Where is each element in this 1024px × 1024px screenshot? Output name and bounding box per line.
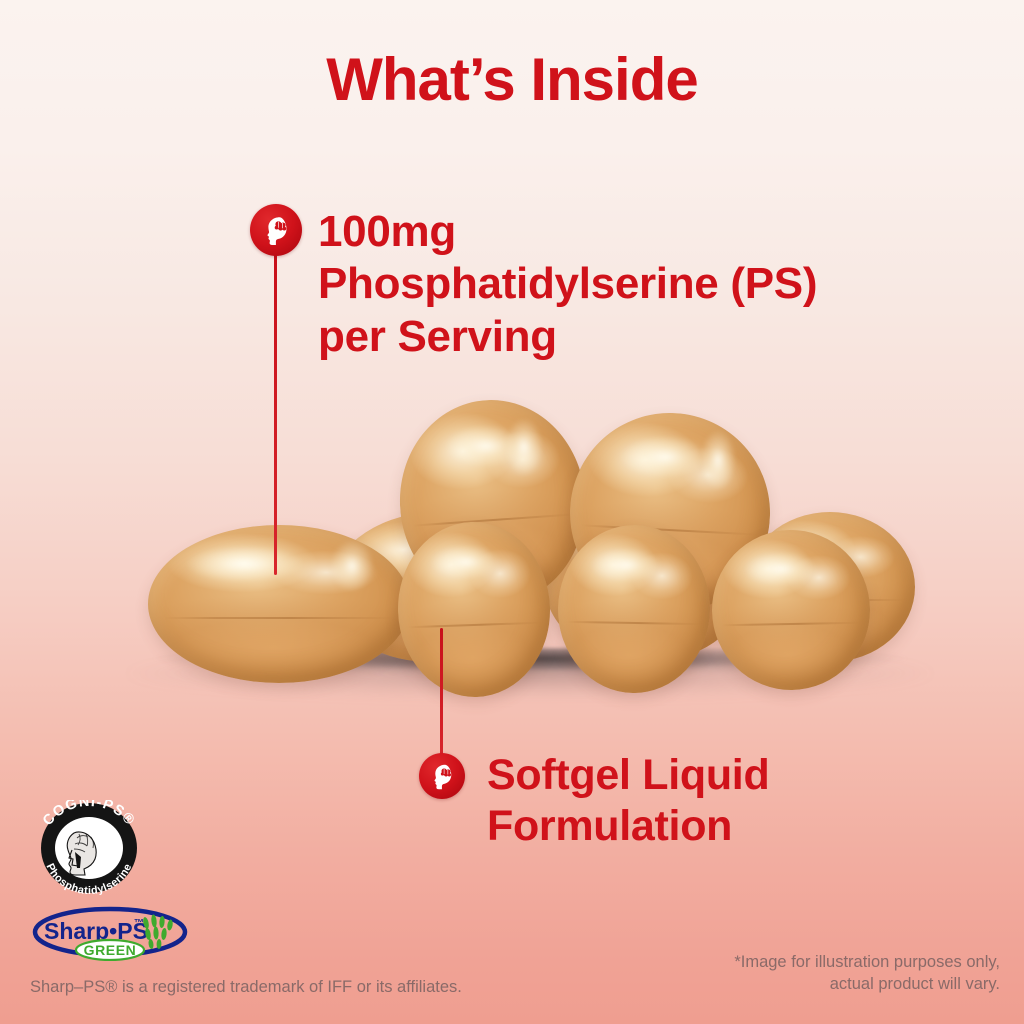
trademark-notice: Sharp–PS® is a registered trademark of I… — [30, 977, 462, 999]
sharp-ps-green-badge-text: GREEN — [84, 942, 137, 958]
callout-line: Phosphatidylserine (PS) — [318, 258, 918, 310]
cogni-ps-logo: COGNI-PS® Phosphatidylserine — [30, 800, 148, 895]
callout-line: Formulation — [487, 801, 987, 852]
page-title: What’s Inside — [0, 48, 1024, 111]
disclaimer-line: actual product will vary. — [734, 974, 1000, 996]
softgel-capsule — [148, 525, 410, 683]
head-brain-icon — [250, 204, 302, 256]
head-brain-icon — [419, 753, 465, 799]
callout-line: 100mg — [318, 206, 918, 258]
callout-leader-line-softgel-form — [440, 628, 443, 758]
callout-line: Softgel Liquid — [487, 750, 987, 801]
disclaimer-line: *Image for illustration purposes only, — [734, 952, 1000, 974]
callout-text-softgel-form: Softgel Liquid Formulation — [487, 750, 987, 852]
callout-line: per Serving — [318, 311, 918, 363]
sharp-ps-green-logo: Sharp•PS ™ GREEN — [30, 903, 190, 961]
callout-text-ps-dose: 100mg Phosphatidylserine (PS) per Servin… — [318, 206, 918, 363]
callout-leader-line-ps-dose — [274, 250, 277, 575]
illustration-disclaimer: *Image for illustration purposes only, a… — [734, 952, 1000, 996]
sharp-ps-trademark: ™ — [134, 918, 144, 929]
